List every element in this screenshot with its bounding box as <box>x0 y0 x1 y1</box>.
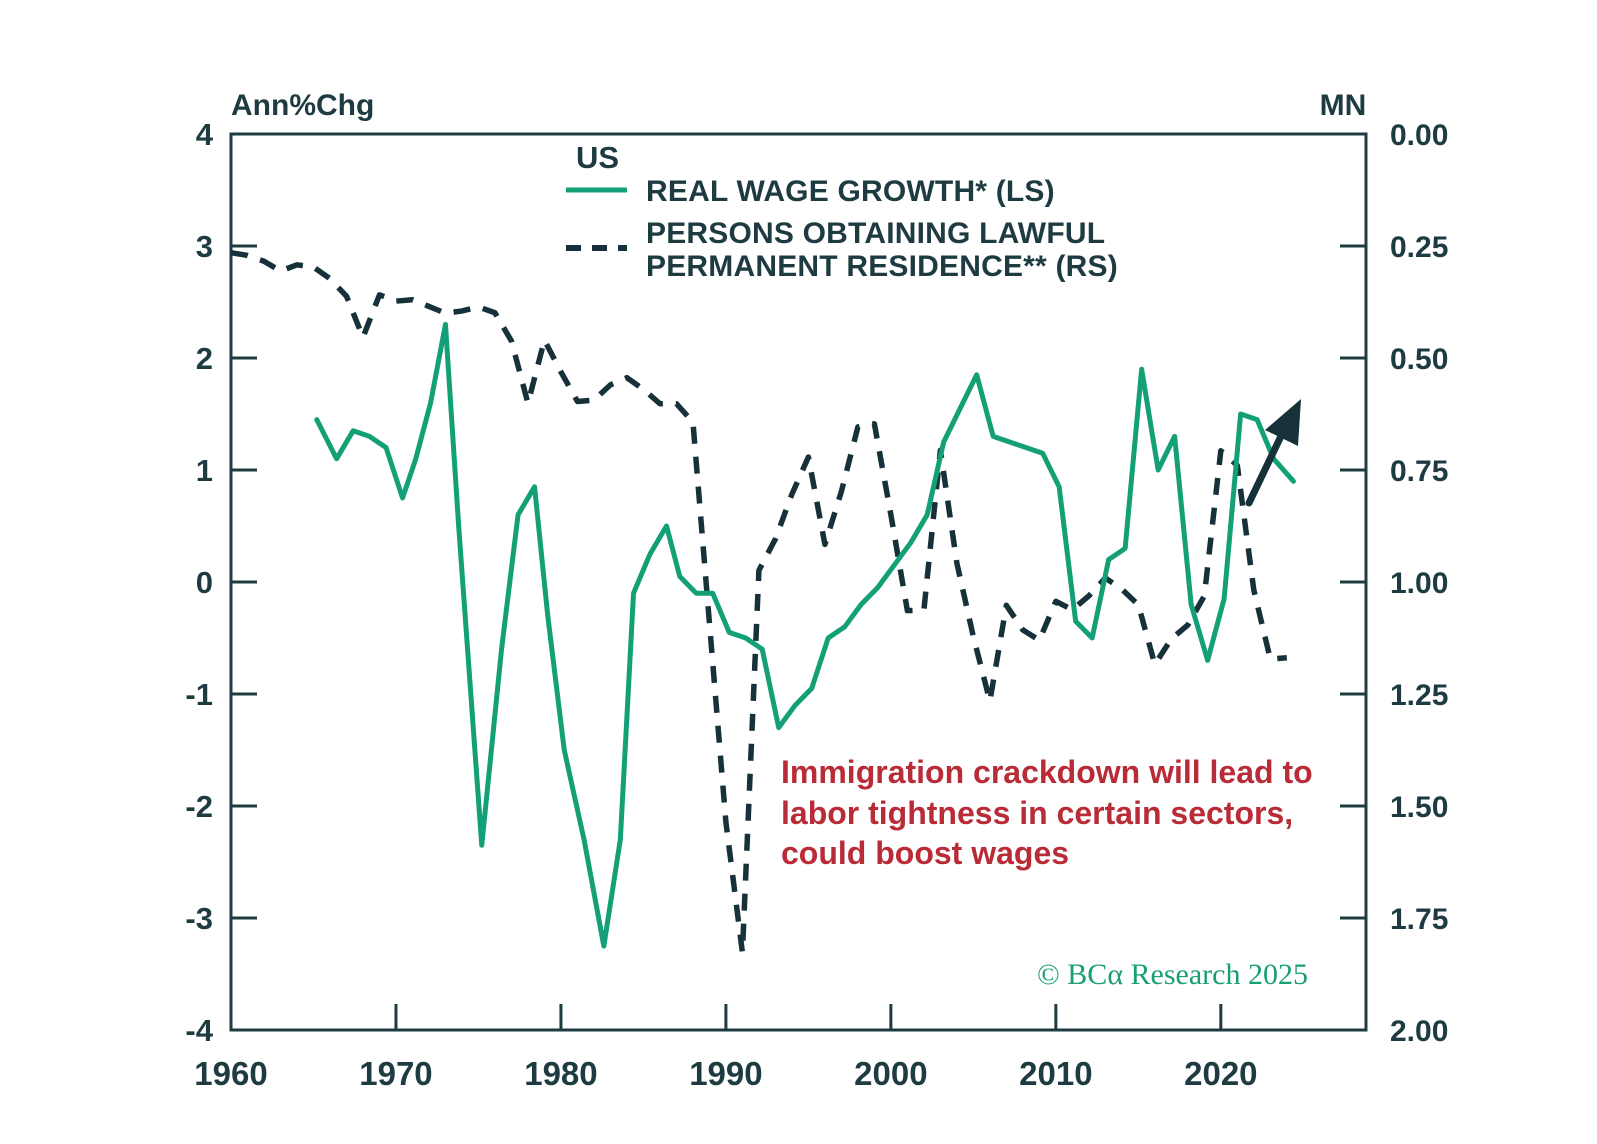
x-tick-label: 1970 <box>359 1055 432 1092</box>
left-tick-label: -2 <box>185 789 213 824</box>
annotation-line-3: could boost wages <box>781 835 1069 871</box>
left-axis-unit-label: Ann%Chg <box>231 89 374 122</box>
right-tick-label: 0.50 <box>1390 343 1448 376</box>
x-tick-label: 2020 <box>1184 1055 1257 1092</box>
chart-background <box>0 0 1597 1144</box>
right-tick-label: 0.25 <box>1390 231 1448 264</box>
left-tick-label: -4 <box>185 1013 213 1048</box>
left-tick-label: 0 <box>196 565 213 600</box>
left-tick-label: 3 <box>196 229 213 264</box>
legend-label-real-wage-growth: REAL WAGE GROWTH* (LS) <box>646 175 1055 208</box>
right-tick-label: 1.50 <box>1390 791 1448 824</box>
right-tick-label: 2.00 <box>1390 1015 1448 1048</box>
right-tick-label: 0.00 <box>1390 119 1448 152</box>
right-tick-label: 1.25 <box>1390 679 1448 712</box>
left-tick-label: 4 <box>196 117 214 152</box>
left-tick-label: -1 <box>185 677 213 712</box>
chart-root: Ann%Chg MN 43210-1-2-3-4 0.000.250.500.7… <box>0 0 1597 1144</box>
x-tick-label: 1980 <box>524 1055 597 1092</box>
legend-label-permanent-residence-line1: PERSONS OBTAINING LAWFUL <box>646 217 1105 250</box>
annotation-line-1: Immigration crackdown will lead to <box>781 754 1313 790</box>
right-tick-label: 1.75 <box>1390 903 1448 936</box>
x-tick-label: 2000 <box>854 1055 927 1092</box>
left-tick-label: -3 <box>185 901 213 936</box>
bca-line-chart: Ann%Chg MN 43210-1-2-3-4 0.000.250.500.7… <box>0 0 1597 1144</box>
x-tick-label: 1960 <box>194 1055 267 1092</box>
left-tick-label: 2 <box>196 341 213 376</box>
x-tick-label: 2010 <box>1019 1055 1092 1092</box>
right-axis-unit-label: MN <box>1320 89 1367 122</box>
copyright-label: © BCα Research 2025 <box>1037 958 1308 991</box>
x-tick-label: 1990 <box>689 1055 762 1092</box>
annotation-line-2: labor tightness in certain sectors, <box>781 795 1293 831</box>
legend-group-title: US <box>576 140 619 175</box>
legend-label-permanent-residence-line2: PERMANENT RESIDENCE** (RS) <box>646 250 1118 283</box>
left-tick-label: 1 <box>196 453 213 488</box>
right-tick-label: 0.75 <box>1390 455 1448 488</box>
right-tick-label: 1.00 <box>1390 567 1448 600</box>
